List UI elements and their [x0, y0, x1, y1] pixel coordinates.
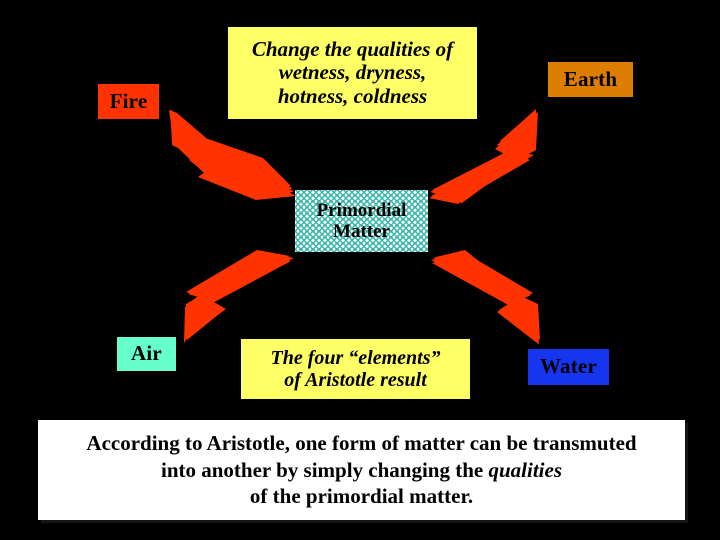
- statement-line2-text: into another by simply changing the: [161, 458, 489, 482]
- element-label-fire: Fire: [98, 84, 159, 119]
- note-qualities: Change the qualities of wetness, dryness…: [228, 27, 477, 119]
- element-label-air: Air: [117, 337, 176, 371]
- element-label-earth: Earth: [548, 62, 633, 97]
- statement-line2: into another by simply changing the qual…: [161, 457, 562, 484]
- arrow-to-earth: [429, 109, 538, 204]
- statement-line2-emphasis: qualities: [488, 458, 562, 482]
- statement-line1: According to Aristotle, one form of matt…: [86, 430, 636, 457]
- primordial-matter-node: Primordial Matter: [295, 190, 428, 252]
- arrow-to-fire: [169, 110, 296, 200]
- element-label-water: Water: [528, 349, 609, 385]
- note-elements-line2: of Aristotle result: [284, 369, 427, 391]
- arrow-to-water: [431, 250, 540, 345]
- note-elements-result: The four “elements” of Aristotle result: [241, 339, 470, 399]
- note-qualities-line3: hotness, coldness: [278, 85, 427, 109]
- primordial-matter-line1: Primordial: [317, 200, 407, 221]
- arrow-to-air: [184, 250, 294, 343]
- statement-panel: According to Aristotle, one form of matt…: [38, 420, 685, 520]
- primordial-matter-line2: Matter: [333, 221, 390, 242]
- note-qualities-line1: Change the qualities of: [252, 38, 453, 62]
- diagram-canvas: Change the qualities of wetness, dryness…: [0, 0, 720, 540]
- note-elements-line1: The four “elements”: [271, 347, 441, 369]
- note-qualities-line2: wetness, dryness,: [279, 61, 427, 85]
- statement-line3: of the primordial matter.: [250, 483, 473, 510]
